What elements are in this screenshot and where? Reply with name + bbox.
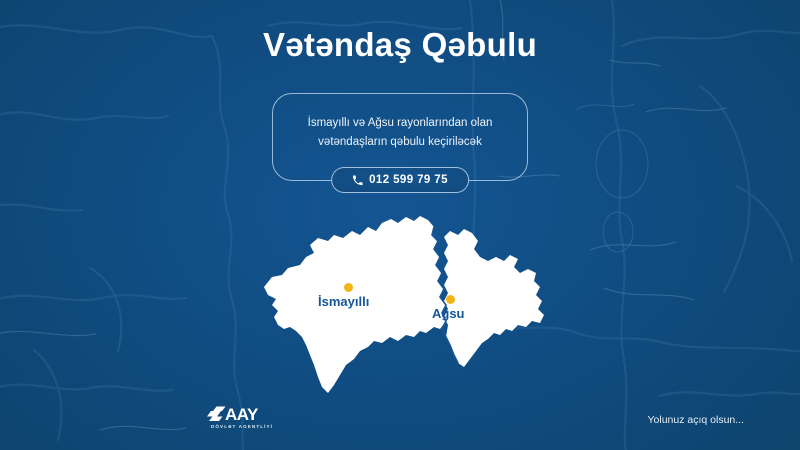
phone-number: 012 599 79 75 — [369, 174, 448, 186]
footer-tagline: Yolunuz açıq olsun... — [647, 414, 744, 426]
info-card-line-2: vətəndaşların qəbulu keçiriləcək — [285, 133, 515, 152]
phone-handset-icon — [352, 175, 363, 186]
city-dot-agsu — [446, 295, 455, 304]
city-label-agsu: Ağsu — [432, 306, 465, 321]
map-svg — [248, 205, 558, 400]
map-region-agsu — [444, 229, 544, 367]
poster-title: Vətəndaş Qəbulu — [0, 26, 800, 64]
info-card-line-1: İsmayıllı və Ağsu rayonlarından olan — [285, 114, 515, 133]
aay-logo-subtitle: DÖVLƏT AGENTLİYİ — [211, 424, 273, 429]
info-card-text: İsmayıllı və Ağsu rayonlarından olan vət… — [273, 114, 527, 152]
poster-canvas: Vətəndaş Qəbulu İsmayıllı və Ağsu rayonl… — [0, 0, 800, 450]
aay-logo: AAY DÖVLƏT AGENTLİYİ — [206, 403, 278, 429]
aay-logo-mark: AAY — [206, 403, 278, 423]
map-graphic — [248, 205, 558, 400]
city-dot-ismayilli — [344, 283, 353, 292]
svg-text:AAY: AAY — [225, 405, 259, 423]
phone-button[interactable]: 012 599 79 75 — [331, 167, 469, 193]
city-label-ismayilli: İsmayıllı — [318, 294, 369, 309]
